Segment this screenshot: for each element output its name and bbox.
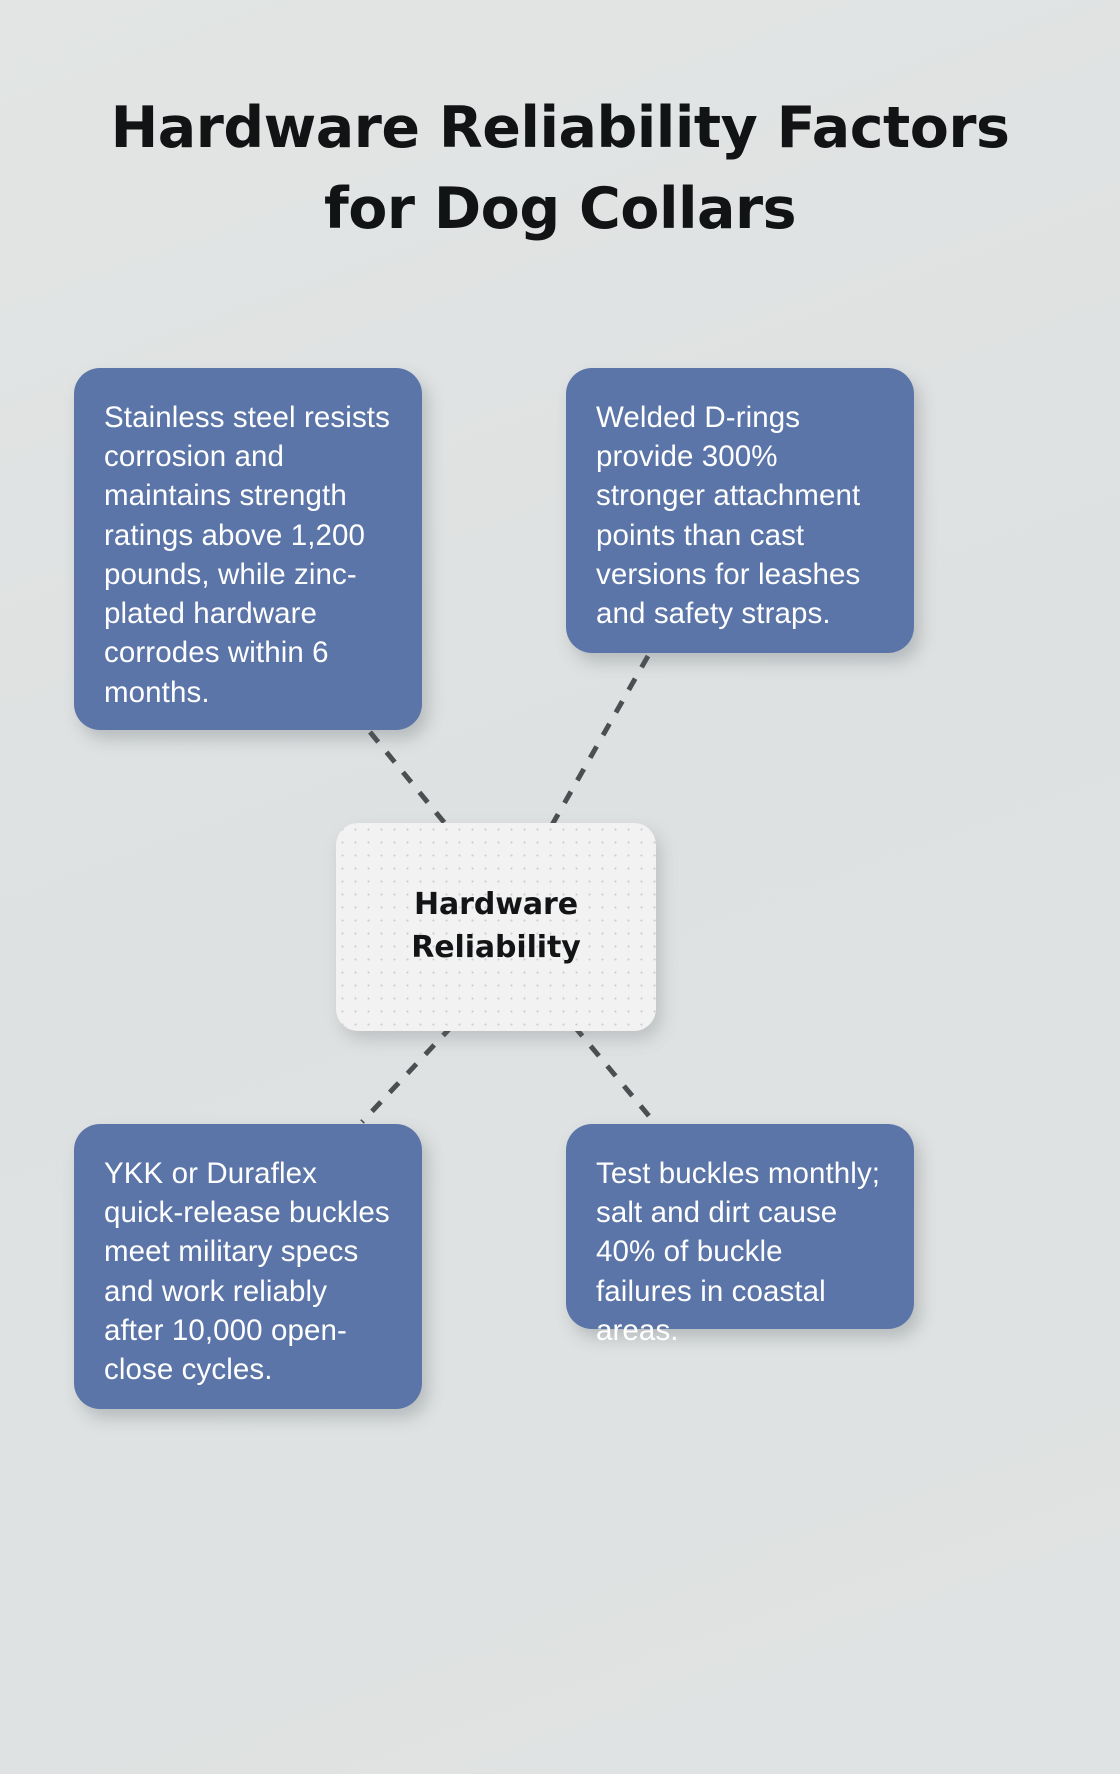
factor-card-stainless-steel[interactable]: Stainless steel resists corrosion and ma… — [74, 368, 422, 730]
factor-card-text: YKK or Duraflex quick-release buckles me… — [104, 1154, 390, 1389]
connector-hub-to-drings — [548, 656, 648, 832]
factor-card-text: Test buckles monthly; salt and dirt caus… — [596, 1154, 882, 1350]
page-title-line-1: Hardware Reliability Factors — [60, 88, 1060, 169]
factor-card-text: Welded D-rings provide 300% stronger att… — [596, 398, 882, 633]
factor-card-text: Stainless steel resists corrosion and ma… — [104, 398, 390, 712]
connector-hub-to-testing — [574, 1026, 654, 1122]
connector-hub-to-buckles — [362, 1026, 452, 1122]
infographic-canvas: Hardware Reliability Factors for Dog Col… — [0, 0, 1120, 1774]
factor-card-buckle-testing[interactable]: Test buckles monthly; salt and dirt caus… — [566, 1124, 914, 1329]
center-hub-node[interactable]: Hardware Reliability — [336, 823, 656, 1031]
center-hub-label: Hardware Reliability — [336, 884, 656, 969]
page-title-line-2: for Dog Collars — [60, 169, 1060, 250]
factor-card-quick-release-buckles[interactable]: YKK or Duraflex quick-release buckles me… — [74, 1124, 422, 1409]
connector-hub-to-steel — [370, 732, 452, 832]
page-title: Hardware Reliability Factors for Dog Col… — [60, 88, 1060, 250]
factor-card-welded-d-rings[interactable]: Welded D-rings provide 300% stronger att… — [566, 368, 914, 653]
